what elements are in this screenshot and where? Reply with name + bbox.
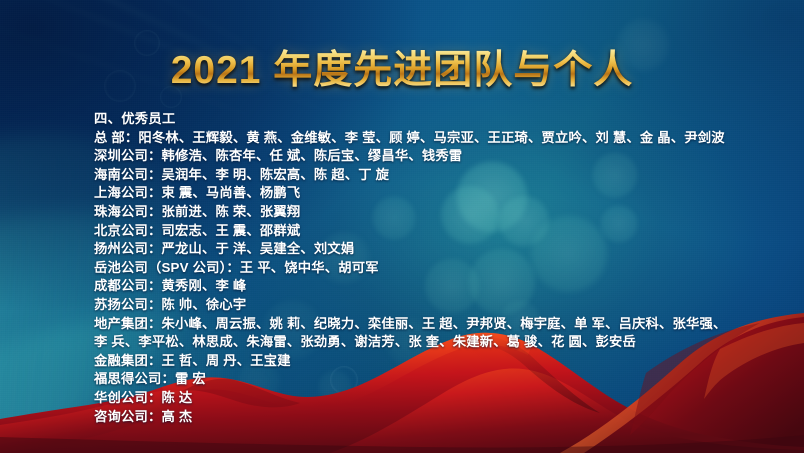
list-item: 成都公司：黄秀刚、李 峰 <box>94 277 784 296</box>
slide-title: 2021 年度先进团队与个人 <box>0 47 804 95</box>
list-item: 咨询公司：高 杰 <box>94 408 784 427</box>
list-item: 福思得公司：雷 宏 <box>94 370 784 389</box>
list-item: 深圳公司：韩修浩、陈杏年、任 斌、陈后宝、缪昌华、钱秀雷 <box>94 147 784 166</box>
presentation-slide: 2021 年度先进团队与个人 2021 年度先进团队与个人 四、优秀员工 总 部… <box>0 0 804 453</box>
list-item: 扬州公司：严龙山、于 洋、吴建全、刘文娟 <box>94 240 784 259</box>
section-heading: 四、优秀员工 <box>94 110 784 129</box>
list-item: 地产集团：朱小峰、周云振、姚 莉、纪晓力、栾佳丽、王 超、尹邦贤、梅宇庭、单 军… <box>94 315 784 334</box>
list-item: 珠海公司：张前进、陈 荣、张翼翔 <box>94 203 784 222</box>
list-item: 苏扬公司：陈 帅、徐心宇 <box>94 296 784 315</box>
list-item: 北京公司：司宏志、王 震、邵群斌 <box>94 222 784 241</box>
list-item: 李 兵、李平松、林思成、朱海雷、张劲勇、谢洁芳、张 奎、朱建新、葛 骏、花 圆、… <box>94 333 784 352</box>
list-item: 金融集团：王 哲、周 丹、王宝建 <box>94 352 784 371</box>
list-item: 总 部：阳冬林、王辉毅、黄 燕、金维敏、李 莹、顾 婷、马宗亚、王正琦、贾立吟、… <box>94 129 784 148</box>
list-item: 岳池公司（SPV 公司）：王 平、饶中华、胡可军 <box>94 259 784 278</box>
list-item: 华创公司：陈 达 <box>94 389 784 408</box>
list-item: 海南公司：吴润年、李 明、陈宏高、陈 超、丁 旋 <box>94 166 784 185</box>
list-item: 上海公司：束 震、马尚善、杨鹏飞 <box>94 184 784 203</box>
employee-list: 四、优秀员工 总 部：阳冬林、王辉毅、黄 燕、金维敏、李 莹、顾 婷、马宗亚、王… <box>94 110 784 426</box>
